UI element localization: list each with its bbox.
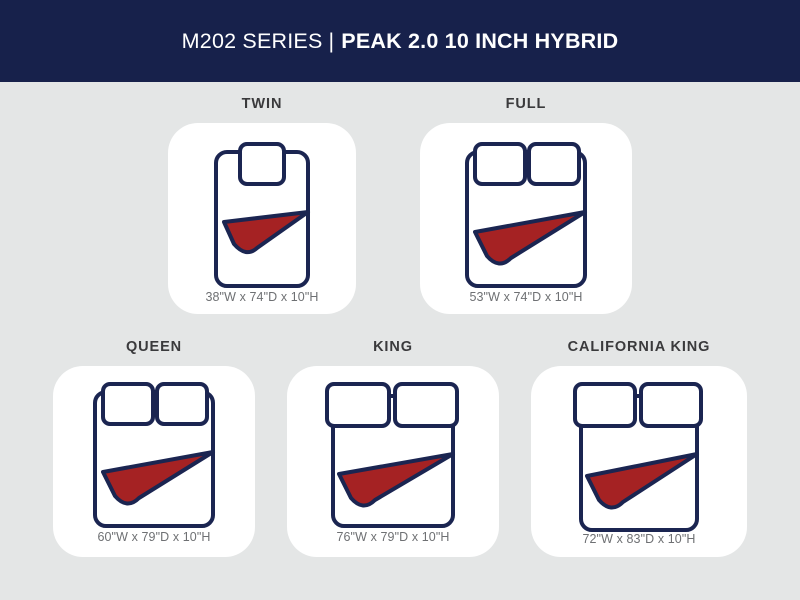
- size-card-twin[interactable]: TWIN 38"W x 74"D x 10"H: [168, 96, 356, 314]
- size-card-queen[interactable]: QUEEN 60"W x 79"D x 10"H: [53, 339, 255, 557]
- size-card-king[interactable]: KING 76"W x 79"D x 10"H: [287, 339, 499, 557]
- bed-queen-icon: [89, 380, 219, 530]
- size-card-dimensions: 72"W x 83"D x 10"H: [582, 532, 695, 546]
- size-card-title: TWIN: [242, 96, 283, 112]
- size-row-bottom: QUEEN 60"W x 79"D x 10"H KING: [0, 339, 800, 557]
- size-card-title: KING: [373, 339, 413, 355]
- page-title: M202 SERIES | PEAK 2.0 10 INCH HYBRID: [182, 29, 619, 54]
- size-card-panel: 53"W x 74"D x 10"H: [420, 123, 632, 314]
- size-card-dimensions: 60"W x 79"D x 10"H: [97, 530, 210, 544]
- size-card-dimensions: 76"W x 79"D x 10"H: [336, 530, 449, 544]
- size-card-title: CALIFORNIA KING: [568, 339, 711, 355]
- size-card-full[interactable]: FULL 53"W x 74"D x 10"H: [420, 96, 632, 314]
- page-header: M202 SERIES | PEAK 2.0 10 INCH HYBRID: [0, 0, 800, 82]
- header-model-label: PEAK 2.0 10 INCH HYBRID: [341, 29, 618, 54]
- size-card-title: QUEEN: [126, 339, 182, 355]
- bed-twin-icon: [212, 140, 312, 290]
- size-card-california-king[interactable]: CALIFORNIA KING 72"W x 83"D x 10"H: [531, 339, 747, 557]
- bed-illustration-california-king: [571, 380, 707, 532]
- size-card-dimensions: 38"W x 74"D x 10"H: [205, 290, 318, 304]
- bed-illustration-full: [461, 140, 591, 290]
- size-chart-stage: TWIN 38"W x 74"D x 10"H FULL: [0, 82, 800, 600]
- header-separator: |: [329, 29, 335, 54]
- size-card-panel: 60"W x 79"D x 10"H: [53, 366, 255, 557]
- size-card-panel: 72"W x 83"D x 10"H: [531, 366, 747, 557]
- size-card-title: FULL: [506, 96, 547, 112]
- size-card-panel: 38"W x 74"D x 10"H: [168, 123, 356, 314]
- header-series-label: M202 SERIES: [182, 29, 323, 54]
- size-card-panel: 76"W x 79"D x 10"H: [287, 366, 499, 557]
- size-card-dimensions: 53"W x 74"D x 10"H: [469, 290, 582, 304]
- bed-full-icon: [461, 140, 591, 290]
- bed-illustration-queen: [89, 380, 219, 530]
- bed-california-king-icon: [571, 380, 707, 532]
- size-row-top: TWIN 38"W x 74"D x 10"H FULL: [0, 96, 800, 314]
- bed-illustration-king: [323, 380, 463, 530]
- bed-king-icon: [323, 380, 463, 530]
- bed-illustration-twin: [212, 140, 312, 290]
